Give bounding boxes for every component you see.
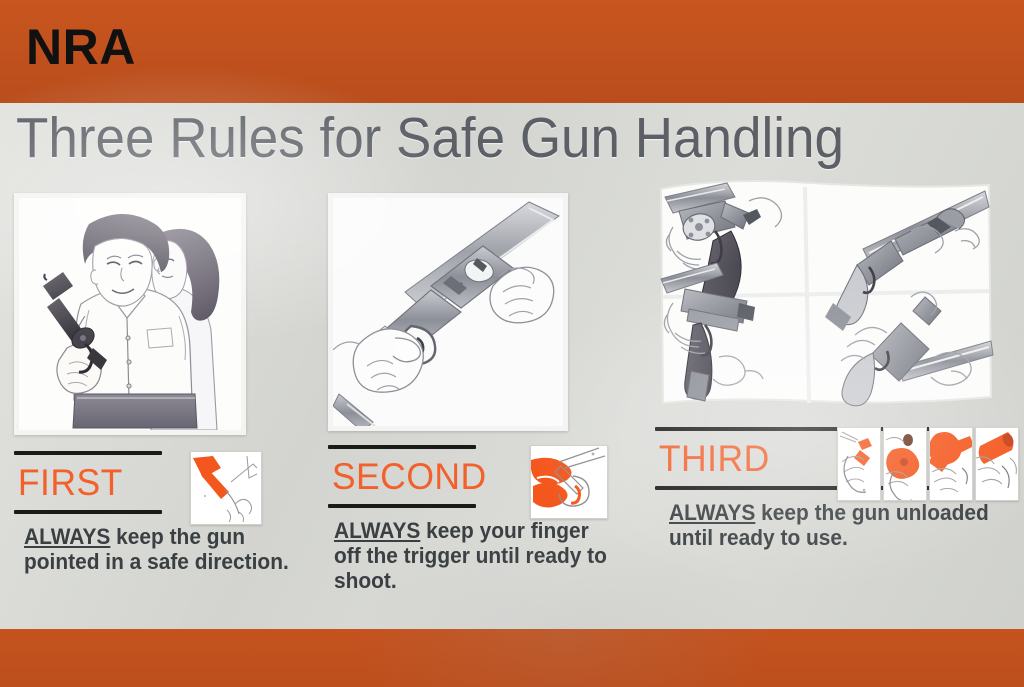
rule-text-second: ALWAYS keep your finger off the trigger … [334,518,613,593]
top-orange-band [0,0,1024,103]
rule-text-first: ALWAYS keep the gun pointed in a safe di… [24,524,292,574]
poster-root: NRA Three Rules for Safe Gun Handling [0,0,1024,687]
label-block-first: FIRST [14,451,306,514]
thumbnail-strip-first [190,451,262,525]
nra-logo: NRA [26,22,136,72]
thumbnail-strip-third [837,427,1019,501]
illustration-first [14,193,246,435]
rule-column-second: SECOND [328,193,628,593]
rule-column-third: THIRD [655,175,1010,550]
illustration-third [655,175,995,413]
rule-line-bottom-second [328,504,476,508]
rule-line-bottom-first [14,510,162,514]
thumbnail-open-action [975,427,1019,501]
thumbnail-remove-magazine [929,427,973,501]
thumbnail-strip-second [530,445,608,519]
thumbnail-safe-direction [190,451,262,525]
thumbnail-finger-off-trigger [530,445,608,519]
label-block-second: SECOND [328,445,628,508]
thumbnail-eject-cartridge [883,427,927,501]
thumbnail-open-cylinder [837,427,881,501]
illustration-second [328,193,568,431]
page-title: Three Rules for Safe Gun Handling [16,108,946,168]
emphasis-always-first: ALWAYS [24,524,110,549]
bottom-orange-band [0,629,1024,687]
emphasis-always-third: ALWAYS [669,500,755,525]
rule-column-first: FIRST [14,193,306,574]
rule-text-third: ALWAYS keep the gun unloaded until ready… [669,500,993,550]
emphasis-always-second: ALWAYS [334,518,420,543]
label-block-third: THIRD [655,427,1010,490]
